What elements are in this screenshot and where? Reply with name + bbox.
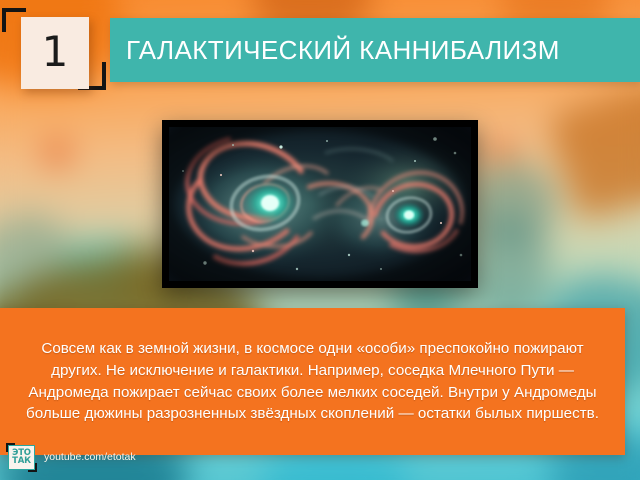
footer-url[interactable]: youtube.com/etotak — [44, 451, 136, 463]
slide-number-badge: 1 — [21, 17, 89, 89]
footer: ЭТО ТАК youtube.com/etotak — [8, 443, 136, 471]
galaxy-photo-frame — [162, 120, 478, 288]
title-bar: ГАЛАКТИЧЕСКИЙ КАННИБАЛИЗМ — [110, 18, 640, 82]
logo-corner-bracket-bottom-right-icon — [28, 463, 37, 472]
etotak-logo[interactable]: ЭТО ТАК — [8, 445, 35, 470]
caption-text: Совсем как в земной жизни, в космосе одн… — [0, 338, 625, 424]
page-title: ГАЛАКТИЧЕСКИЙ КАННИБАЛИЗМ — [110, 35, 560, 66]
logo-corner-bracket-top-left-icon — [6, 443, 15, 452]
caption-panel: Совсем как в земной жизни, в космосе одн… — [0, 308, 625, 455]
slide-root: 1 ГАЛАКТИЧЕСКИЙ КАННИБАЛИЗМ — [0, 0, 640, 480]
galaxy-photo — [169, 127, 471, 281]
slide-number-text: 1 — [42, 31, 69, 73]
galaxy-illustration-icon — [169, 127, 471, 281]
